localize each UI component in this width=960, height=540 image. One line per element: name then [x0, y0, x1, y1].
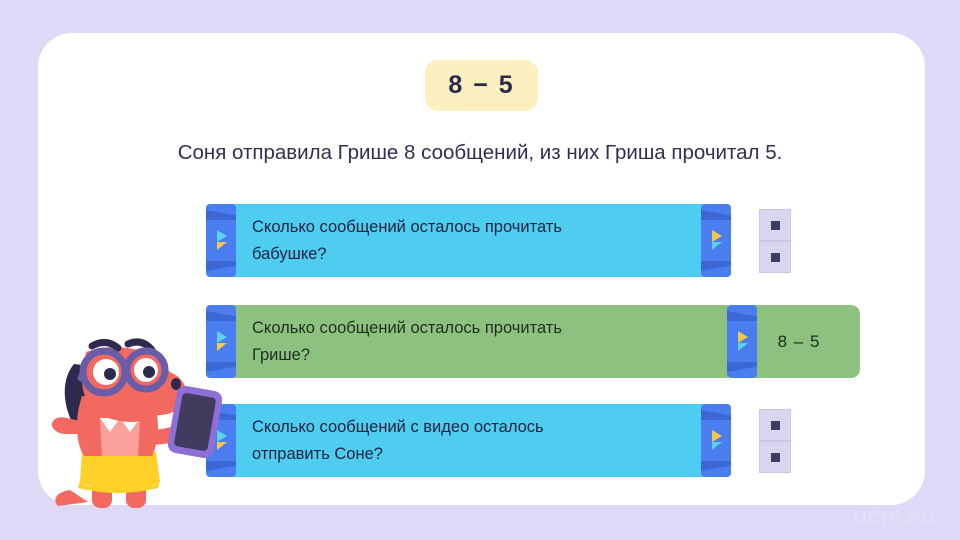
option-1-left-connector [206, 204, 236, 277]
option-3-body[interactable]: Сколько сообщений с видео осталось отпра… [206, 404, 731, 477]
answer-slot-tile[interactable] [759, 441, 791, 473]
option-card-3[interactable]: Сколько сообщений с видео осталось отпра… [206, 404, 780, 477]
option-2-line2: Грише? [252, 342, 562, 369]
answer-slot-tile[interactable] [759, 409, 791, 441]
option-3-answer-slot[interactable] [759, 409, 791, 473]
mascot-dinosaur-icon [48, 330, 223, 510]
option-1-right-connector [701, 204, 731, 277]
option-2-line1: Сколько сообщений осталось прочитать [252, 315, 562, 342]
option-3-line1: Сколько сообщений с видео осталось [252, 414, 544, 441]
connector-arrow-icon [727, 305, 757, 378]
task-expression-text: 8 − 5 [448, 71, 514, 100]
option-1-body[interactable]: Сколько сообщений осталось прочитать баб… [206, 204, 731, 277]
prompt-text: Соня отправила Грише 8 сообщений, из них… [0, 141, 960, 165]
watermark: UCHi.RU [853, 508, 936, 530]
option-1-line1: Сколько сообщений осталось прочитать [252, 214, 562, 241]
answer-slot-tile[interactable] [759, 241, 791, 273]
slot-dot-icon [771, 453, 780, 462]
option-2-answer-text: 8 – 5 [778, 332, 821, 352]
option-3-text: Сколько сообщений с видео осталось отпра… [206, 414, 562, 468]
option-2-text: Сколько сообщений осталось прочитать Гри… [206, 315, 580, 369]
task-expression-badge: 8 − 5 [425, 60, 538, 111]
option-3-line2: отправить Соне? [252, 441, 544, 468]
option-card-2[interactable]: Сколько сообщений осталось прочитать Гри… [206, 305, 780, 378]
connector-arrow-icon [701, 204, 731, 277]
option-2-body[interactable]: Сколько сообщений осталось прочитать Гри… [206, 305, 731, 378]
option-2-right-connector [727, 305, 757, 378]
option-card-1[interactable]: Сколько сообщений осталось прочитать баб… [206, 204, 780, 277]
answer-slot-tile[interactable] [759, 209, 791, 241]
slot-dot-icon [771, 221, 780, 230]
slot-dot-icon [771, 421, 780, 430]
option-3-right-connector [701, 404, 731, 477]
connector-arrow-icon [206, 204, 236, 277]
slot-dot-icon [771, 253, 780, 262]
connector-arrow-icon [701, 404, 731, 477]
option-1-text: Сколько сообщений осталось прочитать баб… [206, 214, 580, 268]
option-1-answer-slot[interactable] [759, 209, 791, 273]
option-1-line2: бабушке? [252, 241, 562, 268]
